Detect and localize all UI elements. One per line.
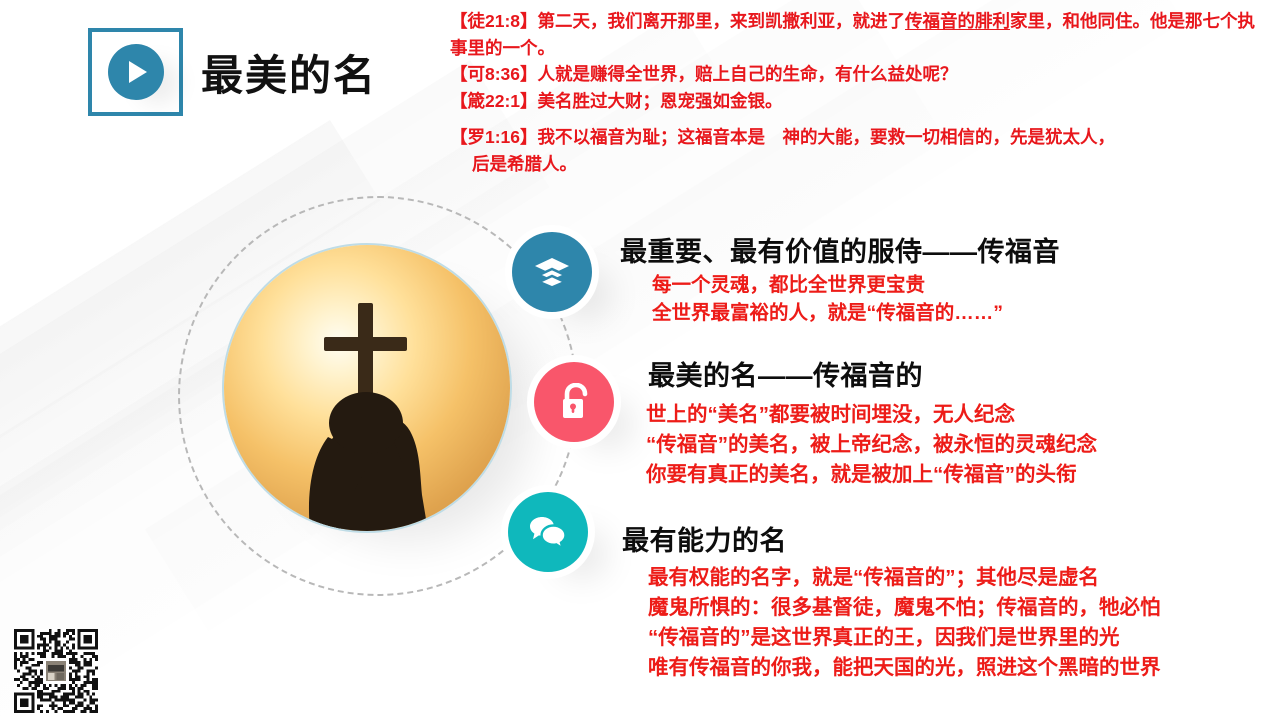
layers-icon[interactable] [512,232,592,312]
scripture-text-1a: 第二天，我们离开那里，来到凯撒利亚，就进了 [538,11,906,31]
qr-code-glyph [14,629,98,713]
layers-glyph [534,256,570,288]
scripture-block: 【徒21:8】第二天，我们离开那里，来到凯撒利亚，就进了传福音的腓利家里，和他同… [450,8,1262,178]
chat-bubbles-icon[interactable] [508,492,588,572]
section-2-bullet: 你要有真正的美名，就是被加上“传福音”的头衔 [646,460,1097,490]
frame-edge-bottom [88,112,183,116]
section-1-body: 每一个灵魂，都比全世界更宝贵 全世界最富裕的人，就是“传福音的……” [652,272,1003,327]
scripture-ref-1: 【徒21:8】 [450,11,538,31]
scripture-ref-4: 【罗1:16】 [450,127,538,147]
slide-canvas: 最美的名 【徒21:8】第二天，我们离开那里，来到凯撒利亚，就进了传福音的腓利家… [0,0,1280,720]
section-2-body: 世上的“美名”都要被时间埋没，无人纪念 “传福音”的美名，被上帝纪念，被永恒的灵… [646,400,1097,490]
play-triangle-icon [129,61,147,83]
scripture-text-4: 我不以福音为耻；这福音本是 神的大能，要救一切相信的，先是犹太人， [538,127,1116,147]
scripture-line-4b: 后是希腊人。 [450,151,1262,178]
section-3-bullet: 唯有传福音的你我，能把天国的光，照进这个黑暗的世界 [648,653,1161,683]
scripture-line-1: 【徒21:8】第二天，我们离开那里，来到凯撒利亚，就进了传福音的腓利家里，和他同… [450,8,1262,61]
unlock-glyph [557,383,591,421]
qr-code[interactable] [14,629,98,713]
section-3-bullet: 最有权能的名字，就是“传福音的”；其他尽是虚名 [648,563,1161,593]
section-1-bullet: 全世界最富裕的人，就是“传福音的……” [652,300,1003,328]
section-3-heading: 最有能力的名 [622,519,787,558]
section-3-body: 最有权能的名字，就是“传福音的”；其他尽是虚名 魔鬼所惧的：很多基督徒，魔鬼不怕… [648,563,1161,684]
page-title: 最美的名 [201,42,377,103]
scripture-text-3: 美名胜过大财；恩宠强如金银。 [538,91,783,111]
scripture-line-2: 【可8:36】人就是赚得全世界，赔上自己的生命，有什么益处呢？ [450,61,1262,88]
cross-silhouette-icon [224,245,510,531]
section-3-bullet: 魔鬼所惧的：很多基督徒，魔鬼不怕；传福音的，牠必怕 [648,593,1161,623]
scripture-text-2: 人就是赚得全世界，赔上自己的生命，有什么益处呢？ [538,64,958,84]
scripture-underline-1: 传福音的腓利 [905,11,1010,31]
section-2-heading: 最美的名——传福音的 [648,354,923,393]
section-2-bullet: “传福音”的美名，被上帝纪念，被永恒的灵魂纪念 [646,430,1097,460]
frame-edge-right [179,28,183,116]
square-frame-icon [88,28,183,116]
cross-photo [222,243,512,533]
section-2-bullet: 世上的“美名”都要被时间埋没，无人纪念 [646,400,1097,430]
section-1-bullet: 每一个灵魂，都比全世界更宝贵 [652,272,1003,300]
play-button-icon[interactable] [108,44,164,100]
scripture-line-3: 【箴22:1】美名胜过大财；恩宠强如金银。 [450,88,1262,115]
section-3-bullet: “传福音的”是这世界真正的王，因我们是世界里的光 [648,623,1161,653]
brand-header: 最美的名 [88,28,377,116]
scripture-ref-3: 【箴22:1】 [450,91,538,111]
scripture-line-4: 【罗1:16】我不以福音为耻；这福音本是 神的大能，要救一切相信的，先是犹太人， [450,124,1262,151]
unlock-icon[interactable] [534,362,614,442]
frame-edge-top [88,28,183,32]
frame-edge-left [88,28,92,116]
scripture-ref-2: 【可8:36】 [450,64,538,84]
section-1-heading: 最重要、最有价值的服侍——传福音 [620,230,1060,269]
chat-bubbles-glyph [529,515,567,549]
